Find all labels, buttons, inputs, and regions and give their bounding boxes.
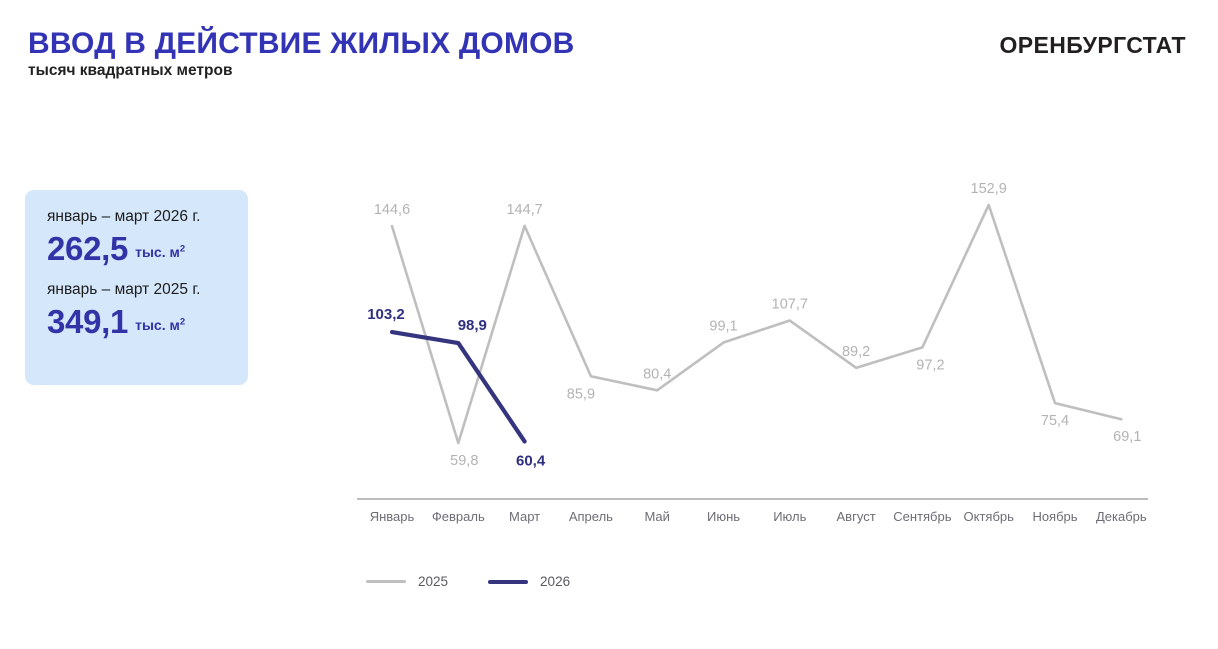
summary-unit-current: тыс. м2 — [135, 244, 185, 260]
summary-period-current: январь – март 2026 г. — [47, 208, 248, 226]
data-label: 107,7 — [772, 297, 808, 313]
summary-unit-previous: тыс. м2 — [135, 317, 185, 333]
data-label: 60,4 — [516, 452, 546, 469]
data-label: 97,2 — [916, 357, 944, 373]
summary-unit-text-previous: тыс. м — [135, 317, 180, 333]
data-label: 59,8 — [450, 453, 478, 469]
month-label-3: Март — [509, 509, 540, 524]
month-label-1: Январь — [370, 509, 415, 524]
summary-value-previous: 349,1 — [47, 303, 128, 340]
month-label-5: Май — [644, 509, 669, 524]
month-label-9: Сентябрь — [893, 509, 951, 524]
series-2026 — [392, 332, 525, 441]
legend-item-2026[interactable]: 2026 — [488, 574, 570, 589]
data-label: 85,9 — [567, 386, 595, 402]
series-2025-labels: 144,659,8144,785,980,499,1107,789,297,21… — [374, 181, 1142, 469]
month-label-7: Июль — [773, 509, 806, 524]
series-2026-line — [392, 332, 525, 441]
summary-value-current: 262,5 — [47, 230, 128, 267]
x-axis-month-labels: ЯнварьФевральМартАпрельМайИюньИюльАвгуст… — [370, 509, 1147, 524]
data-label: 144,6 — [374, 202, 410, 218]
data-label: 75,4 — [1041, 413, 1069, 429]
data-label: 152,9 — [971, 181, 1007, 197]
page-title: ВВОД В ДЕЙСТВИЕ ЖИЛЫХ ДОМОВ — [28, 27, 575, 61]
legend-label-2026: 2026 — [540, 574, 570, 589]
summary-period-previous: январь – март 2025 г. — [47, 281, 248, 299]
chart-svg: 144,659,8144,785,980,499,1107,789,297,21… — [340, 150, 1190, 610]
page-header: ВВОД В ДЕЙСТВИЕ ЖИЛЫХ ДОМОВ тысяч квадра… — [0, 0, 1218, 100]
month-label-6: Июнь — [707, 509, 740, 524]
legend-swatch-2026-icon — [488, 580, 528, 584]
summary-row-current: 262,5тыс. м2 — [47, 232, 248, 265]
month-label-8: Август — [837, 509, 876, 524]
brand-logo: ОРЕНБУРГСТАТ — [1000, 32, 1186, 59]
summary-unit-text-current: тыс. м — [135, 244, 180, 260]
month-label-12: Декабрь — [1096, 509, 1147, 524]
line-chart: 144,659,8144,785,980,499,1107,789,297,21… — [340, 150, 1190, 610]
data-label: 103,2 — [367, 306, 405, 323]
data-label: 69,1 — [1113, 429, 1141, 445]
month-label-10: Октябрь — [964, 509, 1015, 524]
page-subtitle: тысяч квадратных метров — [28, 62, 232, 80]
month-label-2: Февраль — [432, 509, 485, 524]
legend-swatch-2025-icon — [366, 580, 406, 583]
month-label-4: Апрель — [569, 509, 613, 524]
data-label: 144,7 — [506, 202, 542, 218]
summary-card: январь – март 2026 г. 262,5тыс. м2 январ… — [25, 190, 248, 385]
chart-legend: 2025 2026 — [366, 574, 570, 589]
summary-row-previous: 349,1тыс. м2 — [47, 305, 248, 338]
data-label: 89,2 — [842, 344, 870, 360]
month-label-11: Ноябрь — [1032, 509, 1077, 524]
data-label: 98,9 — [458, 317, 487, 334]
data-label: 80,4 — [643, 366, 671, 382]
data-label: 99,1 — [709, 319, 737, 335]
legend-label-2025: 2025 — [418, 574, 448, 589]
legend-item-2025[interactable]: 2025 — [366, 574, 448, 589]
summary-unit-sup-previous: 2 — [180, 316, 185, 327]
summary-unit-sup-current: 2 — [180, 243, 185, 254]
